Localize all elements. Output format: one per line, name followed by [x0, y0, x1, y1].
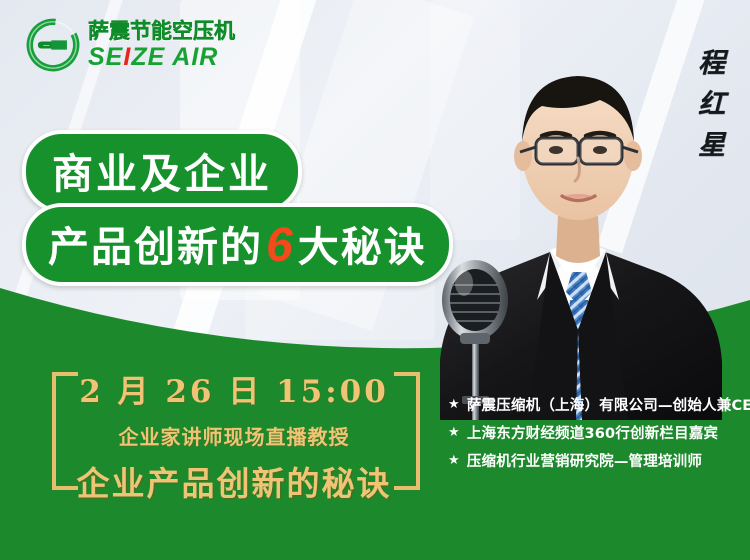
credential-text: 上海东方财经频道360行创新栏目嘉宾	[467, 422, 718, 443]
credential-text: 萨震压缩机（上海）有限公司—创始人兼CEO	[467, 394, 750, 415]
headline-number: 6	[263, 219, 298, 272]
headline-line-1: 商业及企业	[22, 130, 302, 213]
list-item: ★ 压缩机行业营销研究院—管理培训师	[448, 450, 750, 471]
brand-logo[interactable]: 萨震节能空压机 SEIZE AIR	[24, 16, 235, 74]
brand-name-en: SEIZE AIR	[88, 45, 235, 70]
star-icon: ★	[448, 426, 460, 439]
star-icon: ★	[448, 454, 460, 467]
star-icon: ★	[448, 398, 460, 411]
brand-name-cn: 萨震节能空压机	[88, 21, 235, 42]
bracket-right-decoration	[394, 372, 420, 490]
event-info-block: 2 月 26 日 15:00 企业家讲师现场直播教授 企业产品创新的秘诀	[44, 360, 424, 495]
brand-logo-text: 萨震节能空压机 SEIZE AIR	[88, 21, 235, 70]
credentials-list: ★ 萨震压缩机（上海）有限公司—创始人兼CEO ★ 上海东方财经频道360行创新…	[448, 394, 750, 471]
headline-line-2: 产品创新的6大秘诀	[22, 203, 453, 286]
headline-line2-before: 产品创新的	[48, 223, 263, 271]
seize-air-logo-icon	[24, 16, 82, 74]
list-item: ★ 萨震压缩机（上海）有限公司—创始人兼CEO	[448, 394, 750, 415]
bracket-left-decoration	[52, 372, 78, 490]
event-main-title: 企业产品创新的秘诀	[44, 457, 424, 505]
event-subtitle: 企业家讲师现场直播教授	[44, 421, 424, 450]
headline-line2-after: 大秘诀	[298, 223, 427, 271]
list-item: ★ 上海东方财经频道360行创新栏目嘉宾	[448, 422, 750, 443]
speaker-name-calligraphy: 程红星	[695, 48, 722, 171]
promo-banner: 萨震节能空压机 SEIZE AIR 商业及企业 产品创新的6大秘诀 程红星 2 …	[0, 0, 750, 560]
credential-text: 压缩机行业营销研究院—管理培训师	[467, 450, 702, 471]
event-date-time: 2 月 26 日 15:00	[44, 366, 424, 411]
